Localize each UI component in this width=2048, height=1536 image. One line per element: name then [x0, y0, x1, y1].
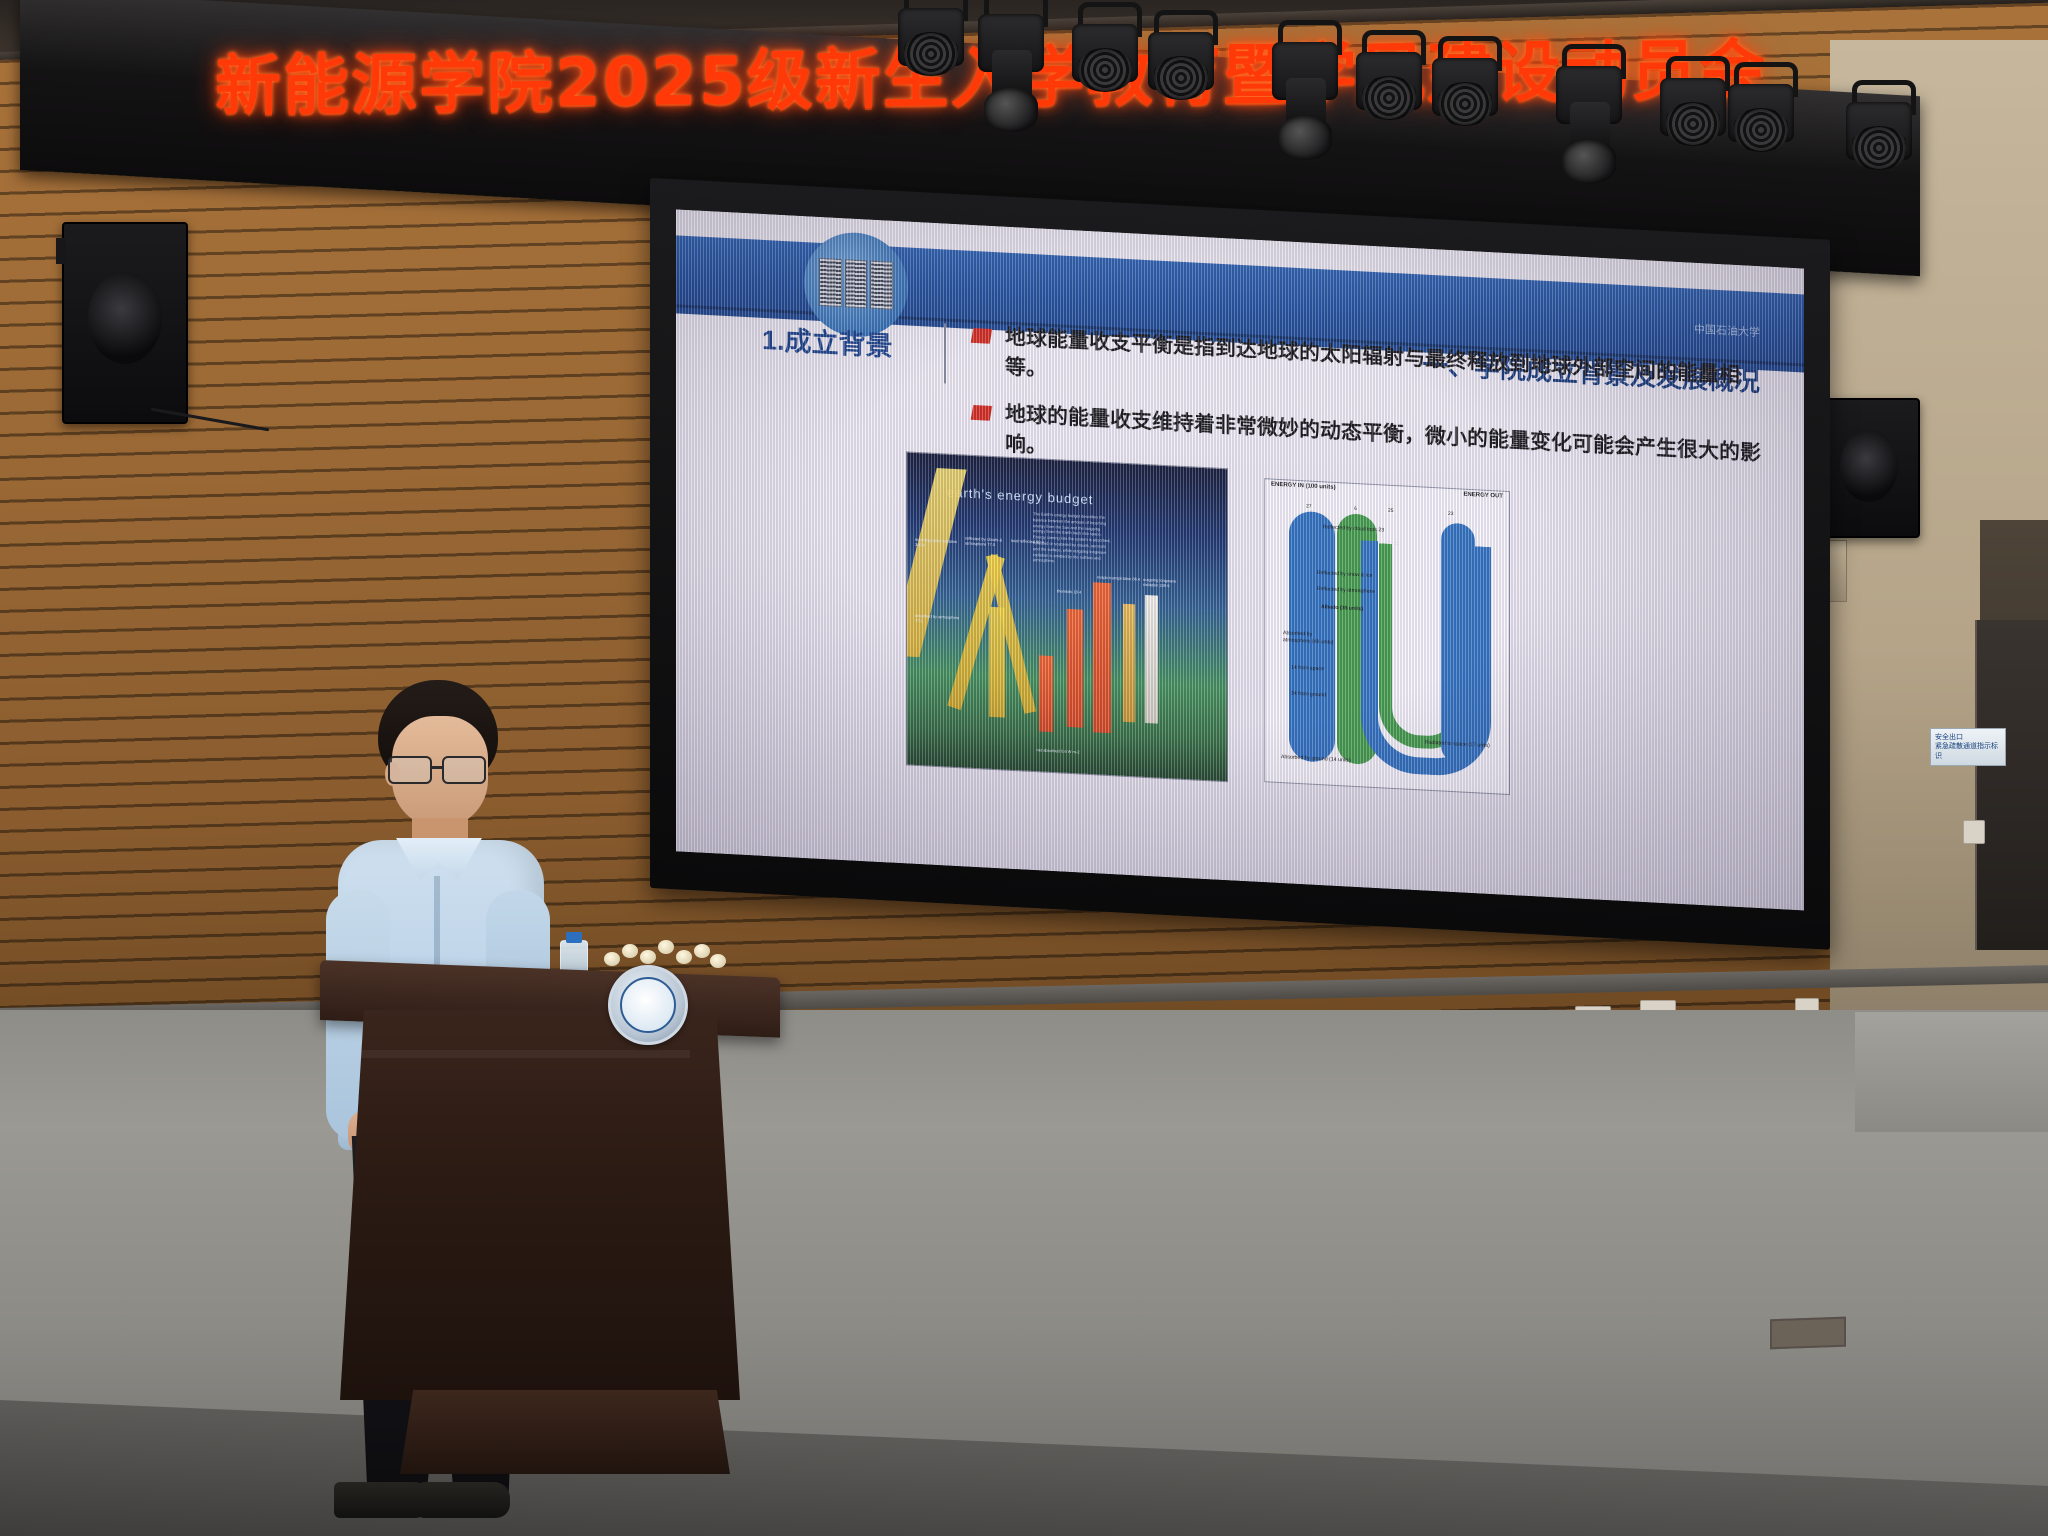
scene-root: 安全出口 紧急疏散通道指示标识 新能源学院2025级新生入学教育暨学风建设动员会: [0, 0, 2048, 1536]
presenter-shoe-right: [418, 1482, 510, 1518]
incoming-solar-beam: [906, 468, 967, 657]
value-chip-6: 6: [1353, 506, 1358, 512]
value-chip-25: 25: [1387, 508, 1395, 514]
floor-access-hatch: [1770, 1317, 1846, 1350]
figure-energy-in-out: ENERGY IN (100 units) ENERGY OUT Reflect…: [1264, 478, 1510, 795]
energy-out-stream: [1441, 522, 1475, 764]
side-door[interactable]: [1975, 620, 2048, 950]
figure-left-label-h: net absorbed 0.6 W m-2: [993, 745, 1123, 757]
figure-left-title: earth's energy budget: [947, 485, 1093, 508]
figure-left-label-c: total reflected 99.9: [1011, 538, 1051, 545]
figure-left-label-a: incoming solar radiation 340.4: [915, 537, 959, 550]
red-square-bullet-icon: [971, 328, 993, 344]
figure-earth-energy-budget: earth's energy budget The Earth's energy…: [906, 451, 1228, 782]
sign-line-1: 安全出口: [1935, 733, 2001, 742]
back-radiation-arrow: [1123, 604, 1135, 723]
energy-out-label: ENERGY OUT: [1463, 492, 1503, 506]
absorbed-atmosphere-label: Absorbed by atmosphere (48 units): [1283, 630, 1339, 646]
speaker-cone-right: [1840, 430, 1898, 502]
figure-left-label-f: evapo-transpiration 86.4: [1097, 574, 1141, 581]
speaker-cone-left: [88, 272, 162, 364]
bottle-cap: [566, 932, 582, 943]
figure-left-label-e: thermals 18.4: [1057, 588, 1097, 595]
slide-vertical-divider: [944, 323, 946, 383]
stage-step: [1855, 1012, 2048, 1132]
projection-screen: 一、学院成立背景及发展概况 1.成立背景 地球能量收支平衡是指到达地球的太阳辐射…: [650, 178, 1830, 950]
slide-left-label: 1.成立背景: [762, 318, 893, 364]
value-chip-23: 23: [1447, 511, 1455, 517]
energy-in-label: ENERGY IN (100 units): [1271, 482, 1336, 497]
red-square-bullet-icon: [971, 405, 993, 421]
thermals-arrow: [1067, 609, 1083, 728]
evaporation-arrow: [1093, 582, 1111, 733]
emergency-exit-sign: 安全出口 紧急疏散通道指示标识: [1930, 728, 2006, 766]
slide-watermark: 中国石油大学: [1694, 321, 1760, 340]
eyeglasses-icon: [386, 756, 490, 782]
presenter-shoe-left: [334, 1482, 430, 1518]
sign-line-2: 紧急疏散通道指示标识: [1935, 742, 2001, 761]
absorbed-beam-down: [989, 607, 1005, 718]
value-chip-27: 27: [1305, 503, 1313, 509]
podium-body: [340, 1010, 740, 1400]
loudspeaker-right: [1818, 398, 1920, 538]
outgoing-longwave-arrow: [1145, 595, 1158, 724]
wall-outlet-5[interactable]: [1963, 820, 1985, 844]
figure-left-label-b: reflected by clouds & atmosphere 77.0: [965, 536, 1005, 548]
screen-inner: 一、学院成立背景及发展概况 1.成立背景 地球能量收支平衡是指到达地球的太阳辐射…: [676, 209, 1804, 910]
surface-radiation-arrow: [1039, 655, 1053, 732]
presentation-slide: 一、学院成立背景及发展概况 1.成立背景 地球能量收支平衡是指到达地球的太阳辐射…: [676, 209, 1804, 910]
university-crest-icon: [608, 965, 688, 1045]
loudspeaker-left: [62, 222, 188, 424]
figure-left-label-g: outgoing longwave radiation 239.9: [1143, 577, 1191, 590]
podium-base: [400, 1390, 730, 1474]
